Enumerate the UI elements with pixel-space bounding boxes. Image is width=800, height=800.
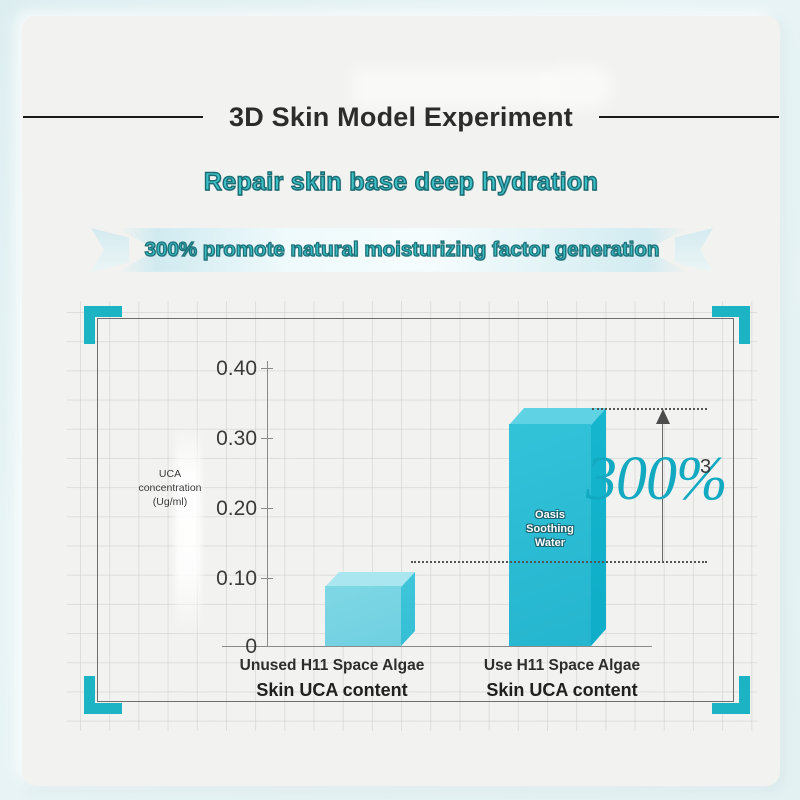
- corner-bracket-bottom-left: [84, 676, 122, 714]
- watermark-column: [175, 421, 201, 636]
- x-axis-labels: Unused H11 Space Algae Skin UCA content …: [217, 657, 677, 701]
- y-tick-mark-020: [261, 508, 273, 509]
- chart-frame-left: [97, 318, 98, 702]
- percent-superscript: 3: [700, 456, 711, 479]
- chart-frame-bottom: [97, 701, 733, 702]
- increase-arrow-icon: [656, 409, 670, 424]
- x-label-line2: Skin UCA content: [217, 680, 447, 701]
- corner-bracket-top-left: [84, 306, 122, 344]
- y-tick-mark-010: [261, 578, 273, 579]
- x-axis-line: [222, 646, 652, 647]
- y-axis-title: UCA concentration (Ug/ml): [122, 467, 218, 509]
- chart-area: 0.40 0.30 0.20 0.10 0 UCA concentration: [67, 301, 757, 731]
- leader-line-bottom: [411, 561, 707, 563]
- y-tick-mark-0: [261, 646, 273, 647]
- y-tick-label: 0.10: [195, 567, 257, 591]
- y-tick-mark-030: [261, 438, 273, 439]
- chart-frame-right: [733, 318, 734, 702]
- bar-top-face: [509, 408, 606, 425]
- x-label-line2: Skin UCA content: [447, 680, 677, 701]
- x-label-unused: Unused H11 Space Algae Skin UCA content: [217, 657, 447, 701]
- y-tick-label: 0.40: [195, 357, 257, 381]
- x-label-line1: Use H11 Space Algae: [447, 657, 677, 675]
- corner-bracket-top-right: [712, 306, 750, 344]
- y-tick-mark-040: [261, 368, 273, 369]
- page-title: 3D Skin Model Experiment: [229, 102, 573, 133]
- bar-front-face: [509, 424, 591, 646]
- chart-frame-top: [97, 318, 733, 319]
- y-axis-title-line2: concentration: [122, 481, 218, 495]
- page-root: 3D Skin Model Experiment Repair skin bas…: [0, 0, 800, 800]
- bar-front-face: [325, 586, 401, 646]
- bar-side-face: [591, 408, 606, 646]
- y-tick-label: 0.30: [195, 427, 257, 451]
- header: 3D Skin Model Experiment: [22, 88, 780, 146]
- ribbon-text: 300% promote natural moisturizing factor…: [117, 224, 687, 276]
- leader-line-top: [592, 408, 707, 410]
- headline-text: Repair skin base deep hydration: [22, 168, 780, 197]
- y-tick-label: 0: [195, 635, 257, 659]
- bar-use-h11[interactable]: Oasis Soothing Water: [509, 408, 606, 646]
- y-axis-title-line3: (Ug/ml): [122, 495, 218, 509]
- x-label-used: Use H11 Space Algae Skin UCA content: [447, 657, 677, 701]
- title-rule-right: [599, 116, 779, 118]
- ribbon-banner: 300% promote natural moisturizing factor…: [117, 224, 687, 276]
- corner-bracket-bottom-right: [712, 676, 750, 714]
- content-card: 3D Skin Model Experiment Repair skin bas…: [22, 16, 780, 786]
- title-rule-left: [23, 116, 203, 118]
- x-label-line1: Unused H11 Space Algae: [217, 657, 447, 675]
- bar-top-face: [325, 572, 415, 587]
- y-axis-line: [267, 361, 268, 646]
- y-axis-title-line1: UCA: [122, 467, 218, 481]
- bar-unused-h11[interactable]: [325, 572, 415, 646]
